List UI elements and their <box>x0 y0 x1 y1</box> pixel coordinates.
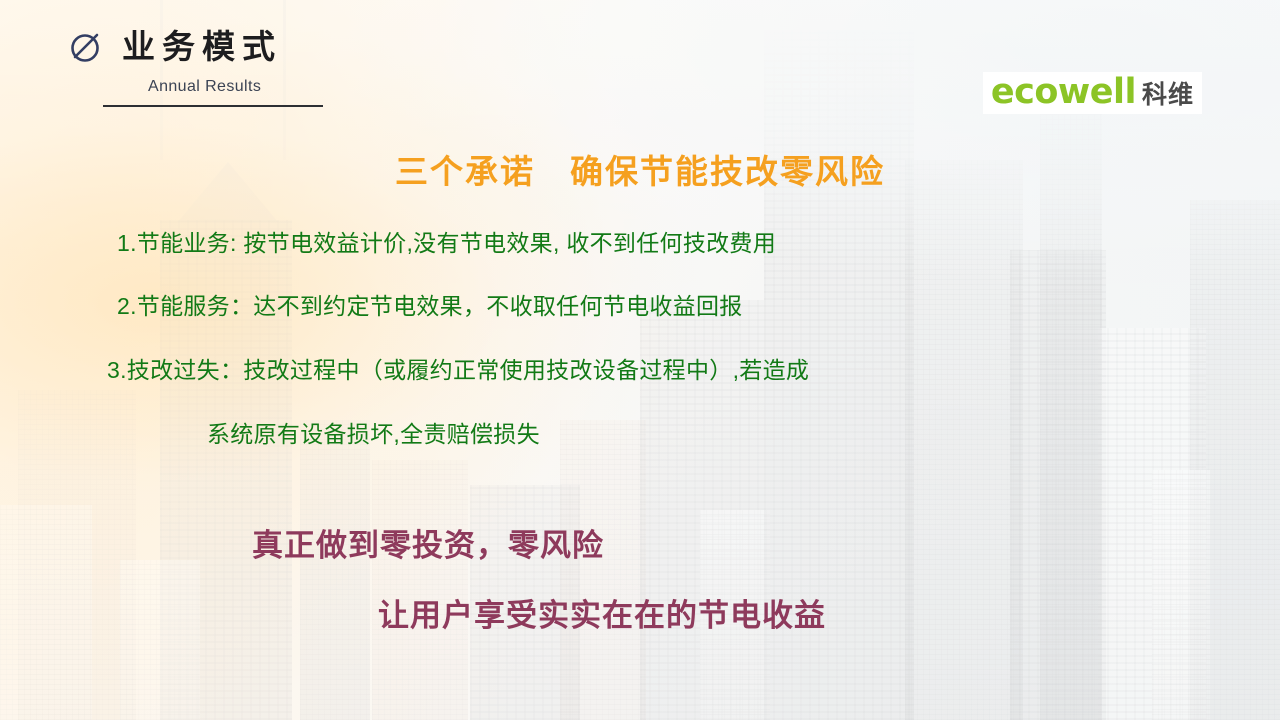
header-divider <box>103 105 323 107</box>
page-title: 业务模式 <box>122 30 282 63</box>
page-subtitle: Annual Results <box>148 78 323 96</box>
promise-item-1: 1.节能业务: 按节电效益计价,没有节电效果, 收不到任何技改费用 <box>117 232 776 255</box>
conclusion-line-2: 让用户享受实实在在的节电收益 <box>378 601 826 632</box>
promise-item-2: 2.节能服务：达不到约定节电效果，不收取任何节电收益回报 <box>117 295 743 318</box>
logo-latin-text: ecowell <box>991 75 1136 110</box>
slashed-circle-icon <box>66 26 106 66</box>
slide-content: 业务模式 Annual Results ecowell 科维 三个承诺 确保节能… <box>0 0 1280 720</box>
promise-item-3-continuation: 系统原有设备损坏,全责赔偿损失 <box>207 423 540 446</box>
headline-text: 三个承诺 确保节能技改零风险 <box>0 145 1280 193</box>
logo-cjk-text: 科维 <box>1142 83 1194 108</box>
slide-canvas: 业务模式 Annual Results ecowell 科维 三个承诺 确保节能… <box>0 0 1280 720</box>
header-title-row: 业务模式 <box>66 26 323 66</box>
ecowell-logo: ecowell 科维 <box>983 72 1202 114</box>
conclusion-line-1: 真正做到零投资，零风险 <box>252 531 604 562</box>
promise-item-3: 3.技改过失：技改过程中（或履约正常使用技改设备过程中）,若造成 <box>107 359 809 382</box>
slide-header: 业务模式 Annual Results <box>66 26 323 107</box>
